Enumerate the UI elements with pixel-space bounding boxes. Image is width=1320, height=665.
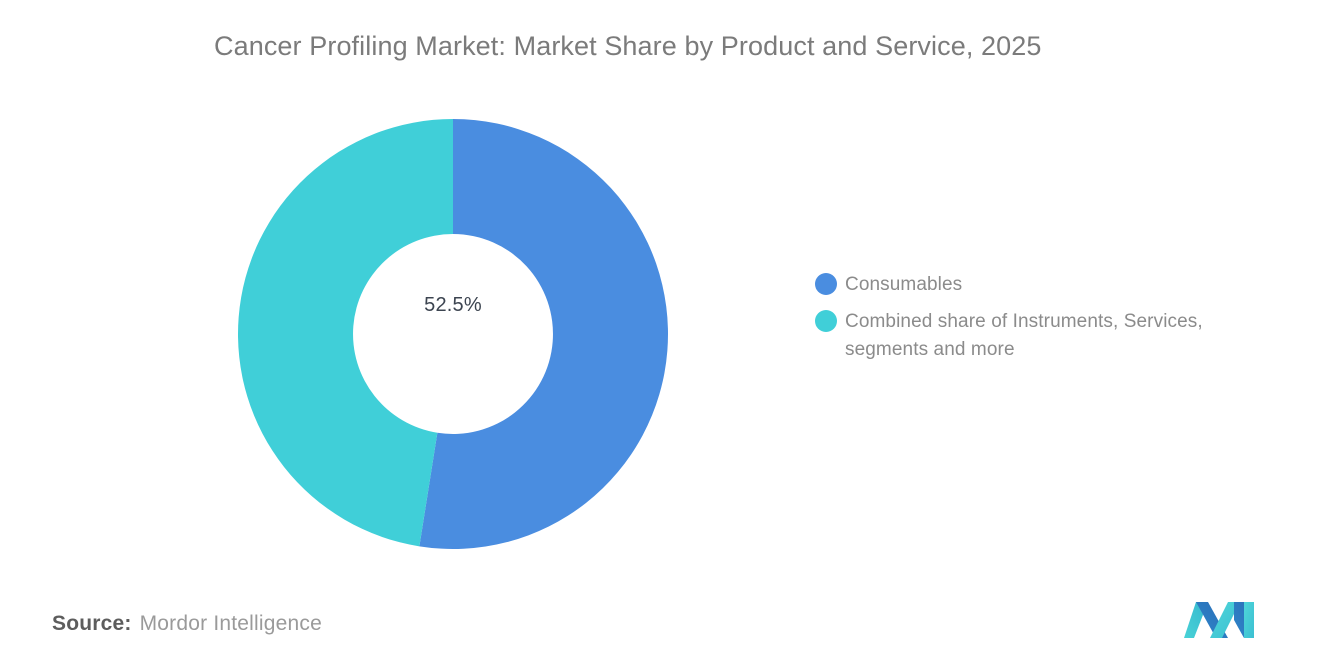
legend-swatch-combined-icon [815,310,837,332]
source-value: Mordor Intelligence [140,612,322,635]
legend-item-consumables[interactable]: Consumables [815,271,1285,299]
legend-label-consumables: Consumables [845,271,962,299]
legend-label-combined: Combined share of Instruments, Services,… [845,308,1270,364]
donut-slice-2[interactable] [238,119,453,546]
page-title: Cancer Profiling Market: Market Share by… [214,31,1214,62]
source-line: Source:Mordor Intelligence [52,612,322,636]
legend-item-combined[interactable]: Combined share of Instruments, Services,… [815,308,1285,364]
donut-slice-1[interactable] [419,119,668,549]
legend-swatch-consumables-icon [815,273,837,295]
chart-legend: Consumables Combined share of Instrument… [815,271,1285,373]
source-label: Source: [52,612,132,635]
donut-slice-group [238,119,668,549]
mordor-intelligence-logo-icon [1182,598,1256,640]
donut-chart: 52.5% [238,118,668,550]
donut-chart-svg [238,118,668,550]
